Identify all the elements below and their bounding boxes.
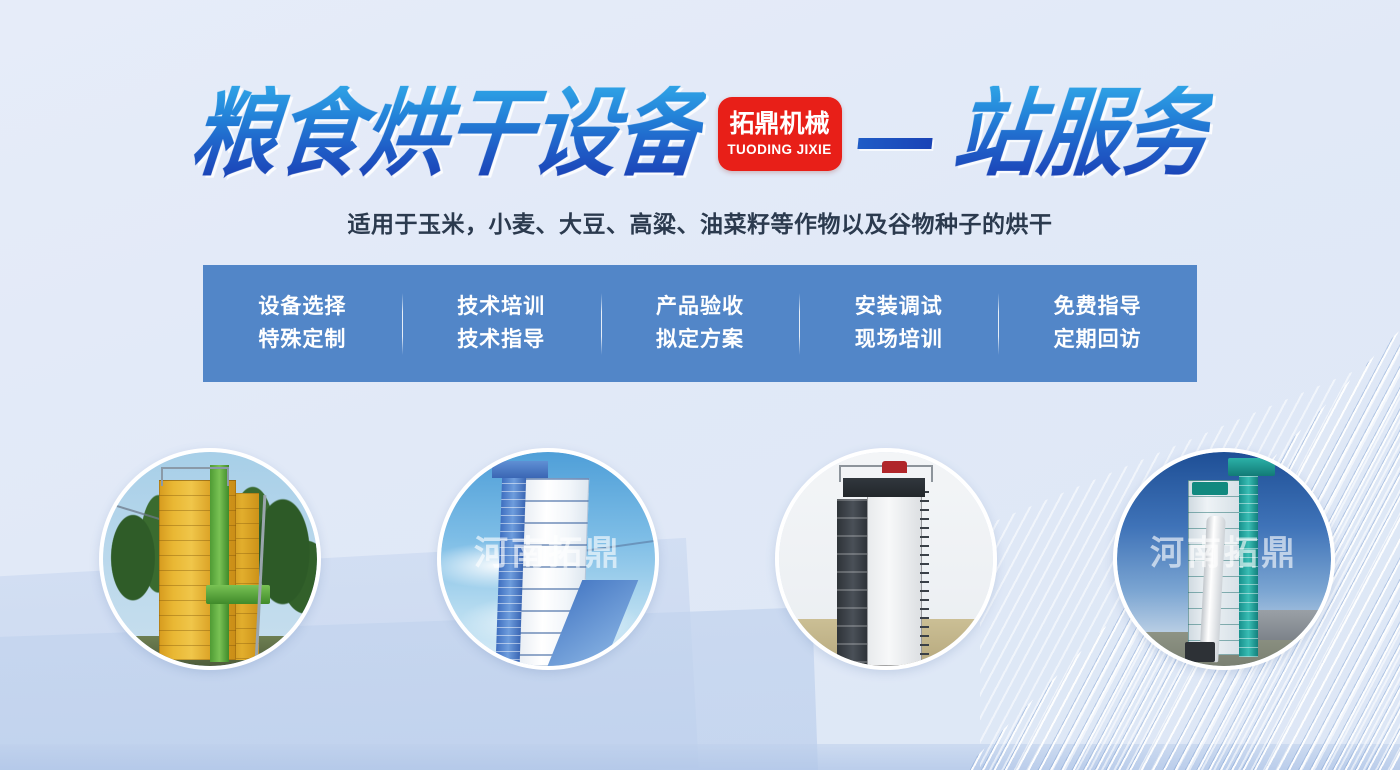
brand-logo-badge: 拓鼎机械 TUODING JIXIE bbox=[718, 97, 842, 171]
feature-item-3-line1: 产品验收 bbox=[601, 291, 800, 324]
photo3-ladder bbox=[920, 491, 929, 666]
product-photo-2: 河南拓鼎 bbox=[437, 448, 659, 670]
product-photo-1 bbox=[99, 448, 321, 670]
product-photo-3-image bbox=[779, 452, 993, 666]
feature-item-5-line2: 定期回访 bbox=[998, 324, 1197, 357]
brand-name-cn: 拓鼎机械 bbox=[729, 111, 829, 137]
photo4-base bbox=[1185, 642, 1215, 661]
feature-item-4-line2: 现场培训 bbox=[799, 324, 998, 357]
photo3-dark-section bbox=[837, 499, 869, 666]
product-photo-4-image: 河南拓鼎 bbox=[1117, 452, 1331, 666]
feature-item-1: 设备选择 特殊定制 bbox=[203, 291, 402, 356]
feature-item-2: 技术培训 技术指导 bbox=[402, 291, 601, 356]
photo1-elevator bbox=[210, 465, 229, 662]
product-photo-row: 河南拓鼎 bbox=[0, 448, 1400, 678]
feature-item-5-line1: 免费指导 bbox=[998, 291, 1197, 324]
feature-item-4-line1: 安装调试 bbox=[799, 291, 998, 324]
feature-item-5: 免费指导 定期回访 bbox=[998, 291, 1197, 356]
product-photo-4: 河南拓鼎 bbox=[1113, 448, 1335, 670]
headline-right-text: 站服务 bbox=[948, 86, 1213, 182]
feature-item-2-line2: 技术指导 bbox=[402, 324, 601, 357]
feature-item-1-line1: 设备选择 bbox=[203, 291, 402, 324]
photo4-head-section bbox=[1228, 458, 1275, 475]
long-dash-icon bbox=[857, 138, 932, 149]
headline-left-text: 粮食烘干设备 bbox=[186, 86, 706, 182]
headline: 粮食烘干设备 拓鼎机械 TUODING JIXIE 站服务 bbox=[0, 78, 1400, 190]
feature-item-3: 产品验收 拟定方案 bbox=[601, 291, 800, 356]
subtitle: 适用于玉米，小麦、大豆、高粱、油菜籽等作物以及谷物种子的烘干 bbox=[0, 205, 1400, 239]
photo1-railing bbox=[161, 467, 229, 486]
feature-item-3-line2: 拟定方案 bbox=[601, 324, 800, 357]
feature-item-2-line1: 技术培训 bbox=[402, 291, 601, 324]
feature-item-4: 安装调试 现场培训 bbox=[799, 291, 998, 356]
photo3-tower bbox=[867, 491, 923, 666]
brand-name-en: TUODING JIXIE bbox=[727, 142, 831, 157]
photo4-brand-sign bbox=[1192, 482, 1228, 495]
product-photo-1-image bbox=[103, 452, 317, 666]
service-feature-bar: 设备选择 特殊定制 技术培训 技术指导 产品验收 拟定方案 安装调试 现场培训 … bbox=[203, 265, 1197, 382]
feature-item-1-line2: 特殊定制 bbox=[203, 324, 402, 357]
photo3-red-cap bbox=[882, 461, 908, 474]
promo-banner: 粮食烘干设备 拓鼎机械 TUODING JIXIE 站服务 适用于玉米，小麦、大… bbox=[0, 0, 1400, 770]
photo2-head-section bbox=[492, 461, 548, 478]
product-photo-3 bbox=[775, 448, 997, 670]
product-photo-2-image: 河南拓鼎 bbox=[441, 452, 655, 666]
photo4-elevator bbox=[1239, 467, 1258, 657]
